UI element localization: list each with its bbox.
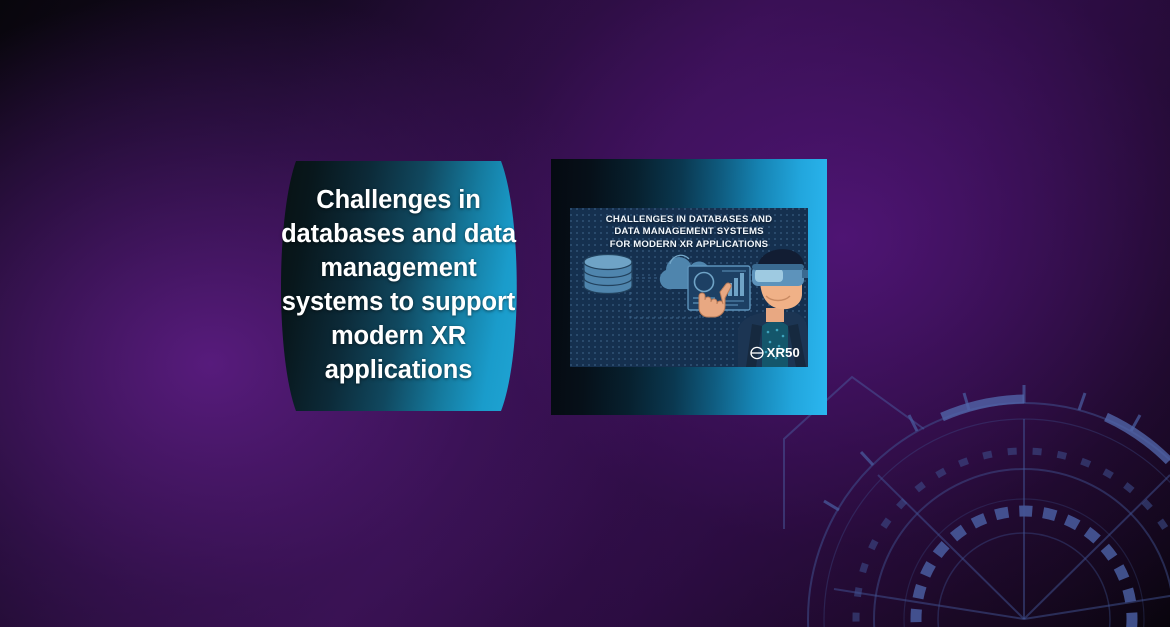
hud-circuit-graphic [774,289,1170,627]
article-title-text: Challenges in databases and data managem… [266,157,531,415]
xr-headset-icon [750,346,764,360]
xr50-logo: XR50 [750,345,800,360]
database-cylinder-icon [584,255,632,294]
slide-canvas: Challenges in databases and data managem… [0,0,1170,627]
thumbnail-heading: CHALLENGES IN DATABASES AND DATA MANAGEM… [570,214,808,251]
xr50-logo-text: XR50 [767,345,800,360]
thumbnail-image[interactable]: CHALLENGES IN DATABASES AND DATA MANAGEM… [570,208,808,367]
